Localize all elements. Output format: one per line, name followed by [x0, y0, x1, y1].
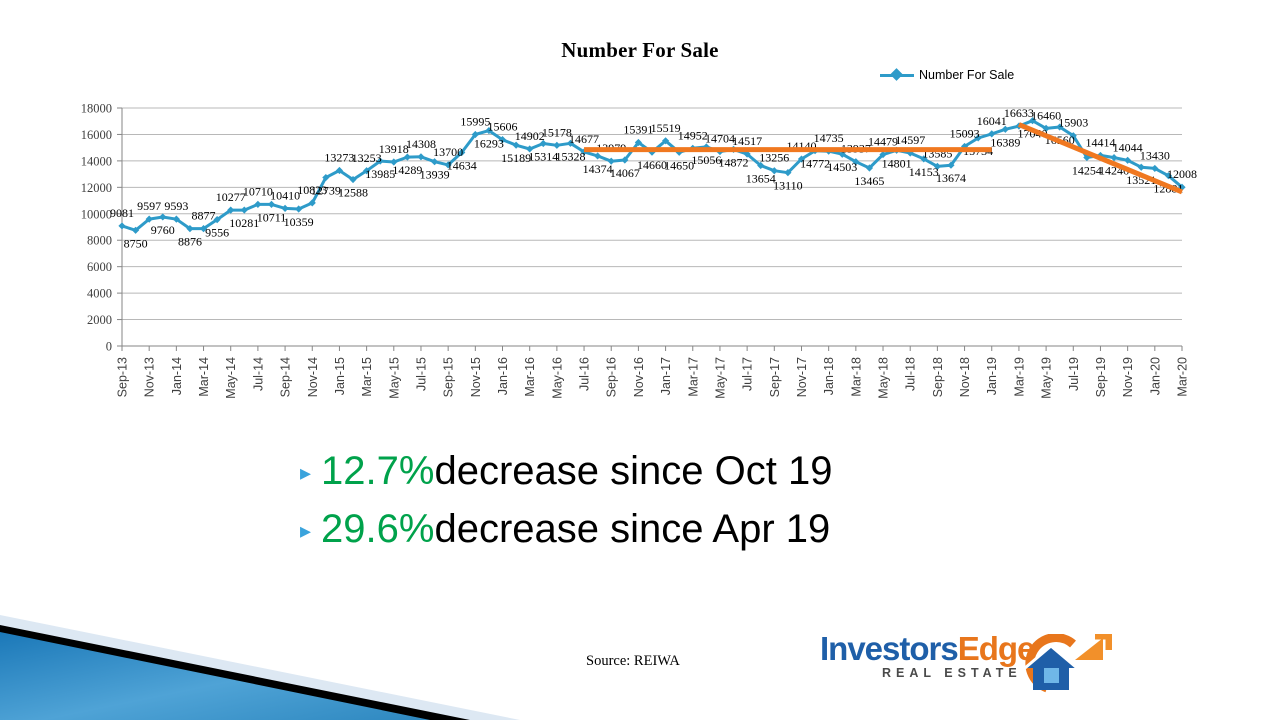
x-axis-label: Nov-19: [1121, 357, 1135, 397]
x-axis-label: Nov-13: [143, 357, 157, 397]
data-label: 14067: [610, 166, 640, 180]
x-axis-label: Jul-16: [578, 357, 592, 391]
data-label: 14872: [719, 155, 749, 169]
decorative-corner: [0, 585, 520, 720]
data-label: 15995: [460, 115, 490, 129]
x-axis-label: Jul-19: [1067, 357, 1081, 391]
house-arrow-icon: [1017, 634, 1112, 696]
x-axis-label: Jan-14: [170, 357, 184, 395]
x-axis-label: Jan-17: [659, 357, 673, 395]
data-label: 14704: [705, 132, 735, 146]
data-label: 14503: [827, 160, 857, 174]
plot-area: 0200040006000800010000120001400016000180…: [0, 98, 1280, 413]
data-label: 15391: [623, 122, 653, 136]
bullet-list: ▸ 12.7% decrease since Oct 19 ▸ 29.6% de…: [300, 448, 1200, 564]
data-label: 13110: [773, 179, 803, 193]
data-label: 14153: [909, 165, 939, 179]
bullet-percent: 29.6%: [321, 506, 434, 552]
series-marker: [553, 142, 560, 149]
x-axis-label: May-16: [550, 357, 564, 399]
data-label: 15178: [542, 125, 572, 139]
data-label: 12588: [338, 186, 368, 200]
data-label: 14254: [1072, 164, 1102, 178]
data-label: 12008: [1167, 167, 1197, 181]
y-axis-label: 8000: [87, 234, 112, 248]
investors-edge-logo: InvestorsEdge REAL ESTATE: [820, 632, 1110, 702]
data-label: 13674: [936, 171, 966, 185]
data-label: 13918: [379, 142, 409, 156]
data-label: 13465: [854, 174, 884, 188]
x-axis-label: Nov-16: [632, 357, 646, 397]
chart-container: Number For Sale Number For Sale 02000400…: [0, 38, 1280, 413]
x-axis-label: Jan-16: [496, 357, 510, 395]
legend-marker-icon: [880, 74, 914, 77]
data-label: 14735: [814, 131, 844, 145]
data-label: 10359: [284, 215, 314, 229]
x-axis-label: Jul-17: [741, 357, 755, 391]
data-label: 13273: [324, 151, 354, 165]
data-label: 10277: [216, 190, 246, 204]
chart-legend: Number For Sale: [880, 68, 1014, 82]
data-label: 16041: [977, 114, 1007, 128]
data-label: 16633: [1004, 106, 1034, 120]
x-axis-label: Jan-18: [822, 357, 836, 395]
x-axis-label: Nov-17: [795, 357, 809, 397]
y-axis-label: 4000: [87, 287, 112, 301]
data-label: 14479: [868, 135, 898, 149]
data-label: 14772: [800, 157, 830, 171]
x-axis-label: Sep-13: [116, 357, 130, 397]
data-label: 8877: [192, 209, 216, 223]
y-axis-label: 2000: [87, 313, 112, 327]
data-label: 9081: [110, 206, 134, 220]
bullet-triangle-icon: ▸: [300, 462, 311, 484]
data-label: 14597: [895, 133, 925, 147]
x-axis-label: Sep-15: [442, 357, 456, 397]
data-label: 13430: [1140, 148, 1170, 162]
data-label: 13700: [433, 145, 463, 159]
x-axis-label: Sep-18: [931, 357, 945, 397]
x-axis-label: Mar-19: [1012, 357, 1026, 397]
x-axis-label: Sep-17: [768, 357, 782, 397]
x-axis-label: Jan-20: [1148, 357, 1162, 395]
data-label: 14952: [678, 128, 708, 142]
list-item: ▸ 29.6% decrease since Apr 19: [300, 506, 1200, 552]
x-axis-label: May-17: [713, 357, 727, 399]
x-axis-label: Mar-16: [523, 357, 537, 397]
data-label: 10710: [243, 184, 273, 198]
y-axis-label: 0: [106, 340, 112, 354]
data-label: 14044: [1113, 140, 1143, 154]
x-axis-label: Sep-16: [605, 357, 619, 397]
data-label: 12739: [311, 184, 341, 198]
data-label: 8876: [178, 235, 202, 249]
data-label: 15903: [1058, 116, 1088, 130]
data-label: 9597: [137, 199, 161, 213]
data-label: 14517: [732, 134, 762, 148]
data-label: 15189: [501, 151, 531, 165]
y-axis-label: 16000: [81, 128, 112, 142]
data-label: 15056: [691, 153, 721, 167]
x-axis-label: Mar-18: [849, 357, 863, 397]
data-label: 13985: [365, 167, 395, 181]
x-axis-label: Jul-14: [251, 357, 265, 391]
x-axis-label: Jul-18: [904, 357, 918, 391]
x-axis-label: Nov-18: [958, 357, 972, 397]
data-label: 14414: [1085, 135, 1115, 149]
series-marker: [417, 153, 424, 160]
y-axis-label: 6000: [87, 260, 112, 274]
data-label: 9593: [164, 199, 188, 213]
x-axis-label: May-15: [387, 357, 401, 399]
x-axis-label: Sep-19: [1094, 357, 1108, 397]
logo-word-investors: Investors: [820, 630, 958, 667]
series-marker: [431, 158, 438, 165]
y-axis-label: 10000: [81, 207, 112, 221]
series-marker: [159, 213, 166, 220]
data-label: 8750: [124, 236, 148, 250]
data-label: 14308: [406, 137, 436, 151]
x-axis-label: Mar-14: [197, 357, 211, 397]
data-label: 16460: [1031, 108, 1061, 122]
x-axis-label: Mar-15: [360, 357, 374, 397]
bullet-triangle-icon: ▸: [300, 520, 311, 542]
y-axis-label: 18000: [81, 102, 112, 116]
x-axis-label: Mar-20: [1176, 357, 1190, 397]
data-label: 15314: [528, 150, 558, 164]
x-axis-label: May-14: [224, 357, 238, 399]
x-axis-label: Jan-19: [985, 357, 999, 395]
series-marker: [118, 222, 125, 229]
x-axis-label: May-18: [877, 357, 891, 399]
data-label: 10281: [229, 216, 259, 230]
chart-title: Number For Sale: [0, 38, 1280, 63]
x-axis-label: Jul-15: [414, 357, 428, 391]
y-axis-label: 14000: [81, 154, 112, 168]
data-label: 9556: [205, 226, 229, 240]
x-axis-label: Jan-15: [333, 357, 347, 395]
data-label: 9760: [151, 223, 175, 237]
data-label: 14650: [664, 158, 694, 172]
bullet-percent: 12.7%: [321, 448, 434, 494]
data-label: 14677: [569, 132, 599, 146]
data-label: 14374: [583, 162, 613, 176]
data-label: 13654: [746, 171, 776, 185]
data-label: 15093: [950, 126, 980, 140]
source-note: Source: REIWA: [586, 653, 680, 670]
data-label: 14902: [515, 129, 545, 143]
data-label: 16389: [990, 135, 1020, 149]
data-label: 14660: [637, 158, 667, 172]
x-axis-label: May-19: [1040, 357, 1054, 399]
x-axis-label: Mar-17: [686, 357, 700, 397]
data-label: 13253: [352, 151, 382, 165]
data-label: 13939: [420, 168, 450, 182]
data-label: 15606: [488, 120, 518, 134]
list-item: ▸ 12.7% decrease since Oct 19: [300, 448, 1200, 494]
x-axis-label: Sep-14: [279, 357, 293, 397]
data-label: 15519: [651, 121, 681, 135]
data-label: 13256: [759, 151, 789, 165]
y-axis-label: 12000: [81, 181, 112, 195]
data-label: 10711: [257, 210, 287, 224]
x-axis-label: Nov-14: [306, 357, 320, 397]
data-label: 10410: [270, 188, 300, 202]
bullet-text: decrease since Apr 19: [434, 506, 830, 552]
data-label: 15328: [555, 149, 585, 163]
bullet-text: decrease since Oct 19: [434, 448, 832, 494]
data-label: 14801: [882, 156, 912, 170]
legend-label: Number For Sale: [919, 68, 1014, 82]
line-chart-svg: 0200040006000800010000120001400016000180…: [0, 98, 1280, 413]
data-label: 14289: [392, 163, 422, 177]
data-label: 16293: [474, 137, 504, 151]
data-label: 14634: [447, 159, 477, 173]
x-axis-label: Nov-15: [469, 357, 483, 397]
